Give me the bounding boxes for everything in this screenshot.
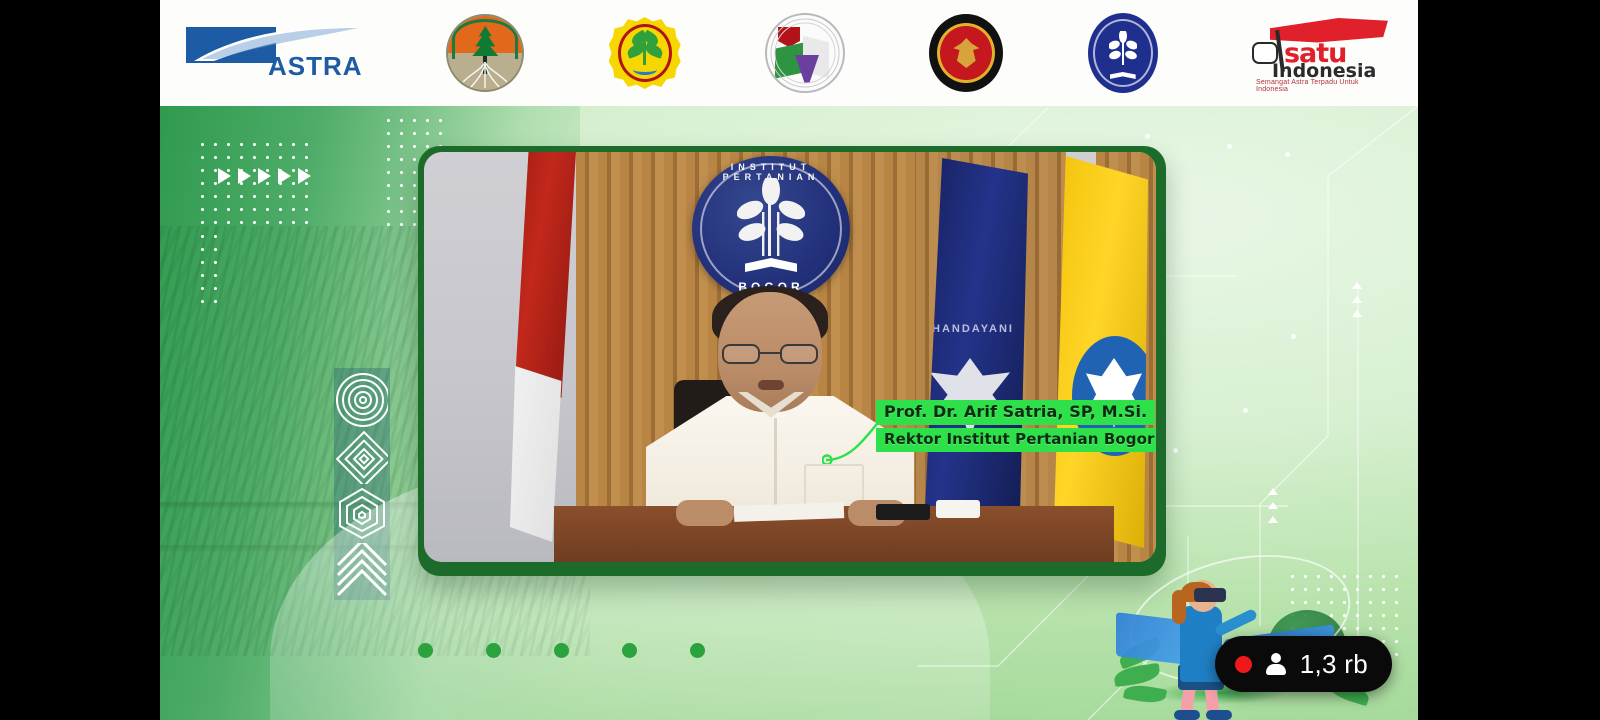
phone-on-desk bbox=[876, 504, 930, 520]
satu-tagline: Semangat Astra Terpadu Untuk Indonesia bbox=[1256, 79, 1392, 93]
astra-logo-text: ASTRA bbox=[268, 51, 363, 82]
video-frame[interactable]: INSTITUT PERTANIAN bbox=[424, 152, 1156, 562]
live-dot-icon bbox=[1235, 656, 1252, 673]
arrow-markers bbox=[218, 168, 311, 184]
bottom-dot bbox=[486, 643, 501, 658]
sponsor-logo-bar: ASTRA bbox=[160, 0, 1418, 106]
dot-grid-left-lower bbox=[196, 230, 222, 308]
decor-triangle bbox=[1352, 282, 1362, 289]
speaker-caption: Prof. Dr. Arif Satria, SP, M.Si. Rektor … bbox=[876, 400, 1156, 452]
speaker-hand-left bbox=[676, 500, 734, 526]
letterbox-left bbox=[0, 0, 160, 720]
forest-tree-seal-icon bbox=[446, 14, 524, 92]
kementerian-pertanian-logo bbox=[609, 17, 681, 89]
satu-indonesia-logo: satu Indonesia Semangat Astra Terpadu Un… bbox=[1242, 16, 1392, 90]
handayani-flag-label: HANDAYANI bbox=[932, 323, 1014, 335]
live-viewer-badge[interactable]: 1,3 rb bbox=[1215, 636, 1392, 692]
klhk-logo bbox=[446, 14, 524, 92]
bottom-dot bbox=[418, 643, 433, 658]
speaker-name: Prof. Dr. Arif Satria, SP, M.Si. bbox=[876, 400, 1155, 425]
astra-logo: ASTRA bbox=[186, 25, 362, 81]
vr-headset-icon bbox=[1194, 588, 1226, 602]
yellow-gear-leaf-seal-icon bbox=[609, 17, 681, 89]
decor-triangle bbox=[1352, 310, 1362, 317]
viewer-count: 1,3 rb bbox=[1300, 649, 1368, 680]
motif-concentric-diamonds bbox=[336, 429, 388, 484]
bottom-dot-row bbox=[418, 643, 705, 658]
bottom-dot bbox=[554, 643, 569, 658]
indonesia-flag bbox=[510, 152, 576, 542]
decor-triangle bbox=[1268, 488, 1278, 495]
decor-dot bbox=[1173, 448, 1178, 453]
green-violet-shield-seal-icon bbox=[765, 13, 845, 93]
letterbox-right bbox=[1418, 0, 1600, 720]
slide-background: INSTITUT PERTANIAN bbox=[160, 106, 1418, 720]
tissue-box bbox=[936, 500, 980, 518]
ipb-wall-logo: INSTITUT PERTANIAN bbox=[692, 156, 850, 302]
university-yellow-flag bbox=[1050, 156, 1148, 548]
bottom-dot bbox=[622, 643, 637, 658]
garuda-black-oval-seal-icon bbox=[929, 14, 1003, 92]
glasses-icon bbox=[722, 344, 818, 364]
video-player-card[interactable]: INSTITUT PERTANIAN bbox=[418, 146, 1166, 576]
speaker-title: Rektor Institut Pertanian Bogor bbox=[876, 428, 1156, 452]
leaf-icon bbox=[1113, 663, 1161, 687]
decor-dot bbox=[1285, 152, 1290, 157]
decor-dot bbox=[1291, 334, 1296, 339]
decor-dot bbox=[1243, 408, 1248, 413]
screen: ASTRA bbox=[0, 0, 1600, 720]
decor-dot bbox=[1145, 134, 1150, 139]
person-icon bbox=[1265, 653, 1287, 675]
decor-triangle bbox=[1352, 296, 1362, 303]
ipb-blue-oval-seal-icon bbox=[1088, 13, 1158, 93]
kemendikbud-logo bbox=[765, 13, 845, 93]
ipb-header-logo bbox=[1088, 13, 1158, 93]
garuda-logo bbox=[929, 14, 1003, 92]
decor-dot bbox=[1227, 144, 1232, 149]
bottom-dot bbox=[690, 643, 705, 658]
motif-concentric-circles bbox=[336, 372, 388, 427]
dot-grid-left bbox=[196, 138, 314, 230]
slide-stage: ASTRA bbox=[160, 0, 1418, 720]
